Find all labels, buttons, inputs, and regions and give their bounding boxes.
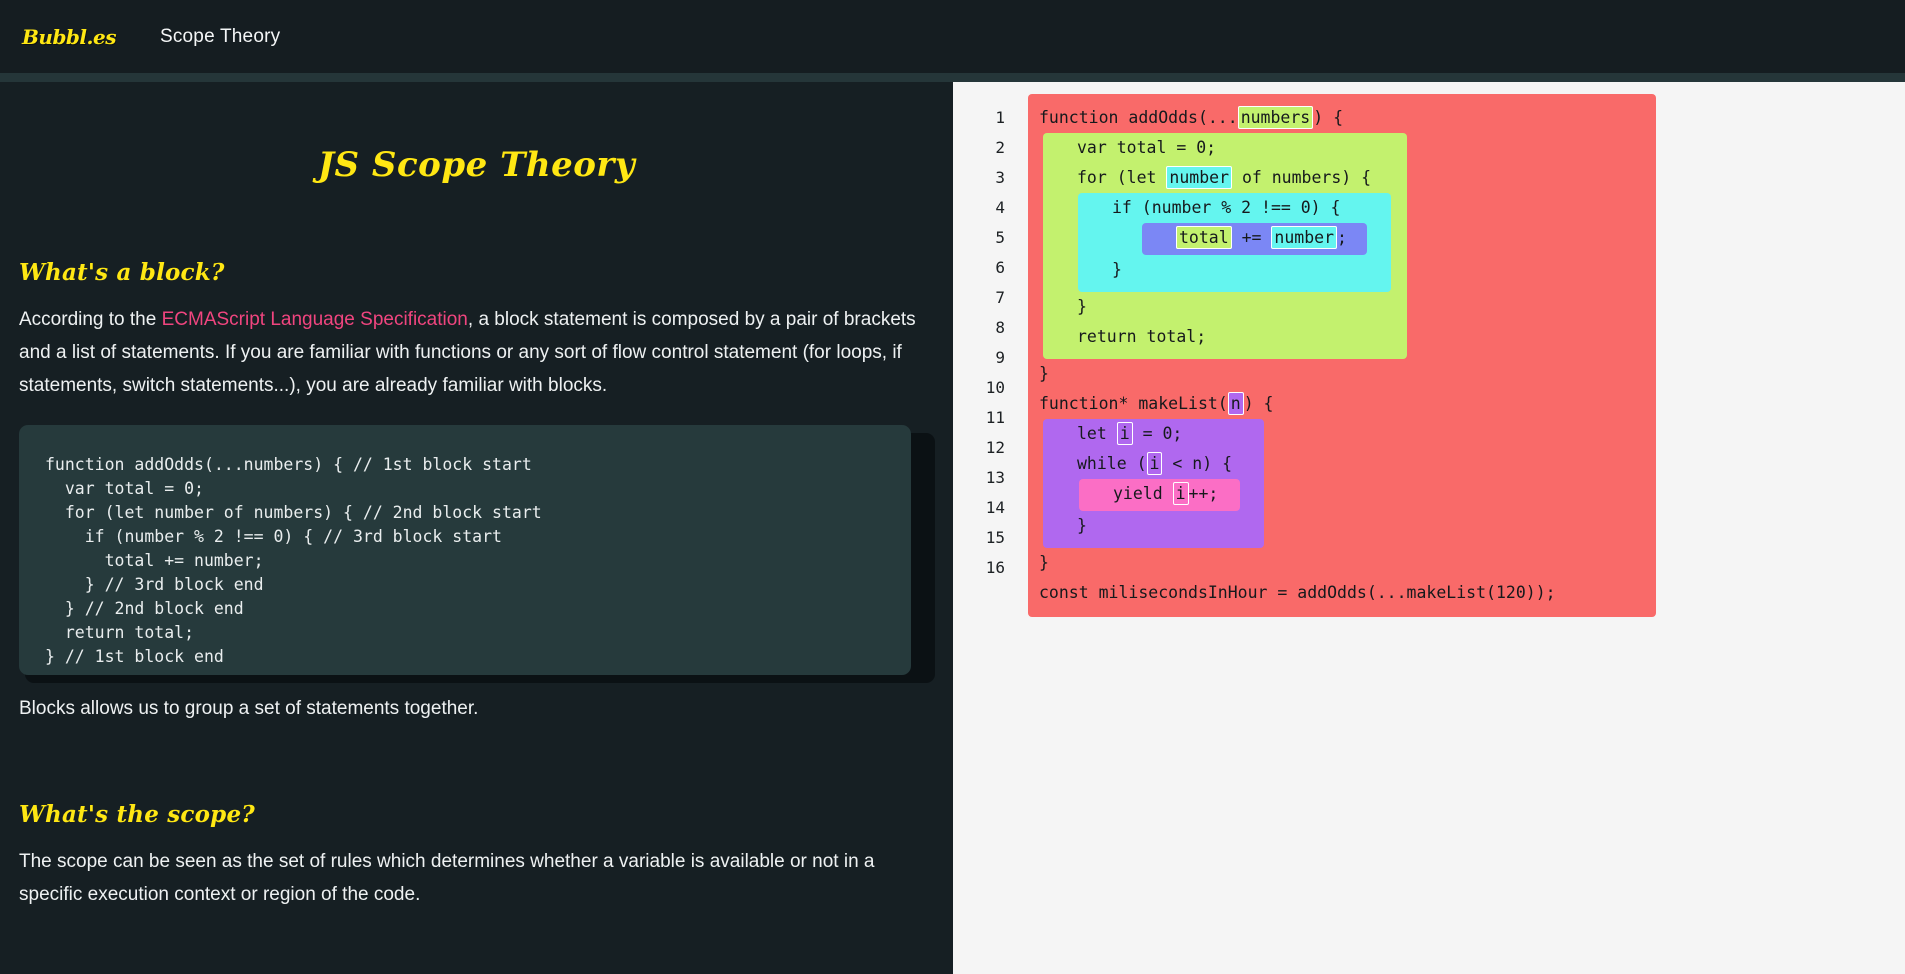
code-text: +=: [1232, 228, 1272, 247]
top-navbar: Bubbl.es Scope Theory: [0, 0, 1905, 73]
code-line-3: for (let number of numbers) {: [1047, 163, 1391, 193]
code-line-9: }: [1039, 359, 1646, 389]
code-line-10: function* makeList(n) {: [1039, 389, 1646, 419]
line-number: 8: [953, 313, 1005, 343]
paragraph-text-before-link: According to the: [19, 309, 162, 330]
code-text: < n) {: [1162, 454, 1232, 473]
code-line-16: const milisecondsInHour = addOdds(...mak…: [1039, 578, 1646, 608]
line-number: 16: [953, 553, 1005, 583]
line-number: 10: [953, 373, 1005, 403]
code-text: ;: [1337, 228, 1347, 247]
page-title: JS Scope Theory: [19, 145, 934, 185]
code-text: let: [1077, 424, 1117, 443]
line-number: 2: [953, 133, 1005, 163]
variable-token-i[interactable]: i: [1117, 422, 1133, 445]
code-line-15: }: [1039, 548, 1646, 578]
code-line-4: if (number % 2 !== 0) {: [1082, 193, 1367, 223]
line-number: 11: [953, 403, 1005, 433]
scope-block-global[interactable]: function addOdds(...numbers) { var total…: [1028, 94, 1656, 617]
line-number: 3: [953, 163, 1005, 193]
section-heading-block: What's a block?: [19, 259, 934, 286]
scope-visualizer-panel[interactable]: 1 2 3 4 5 6 7 8 9 10 11 12 13 14 15 16 f…: [953, 82, 1905, 974]
code-text: ) {: [1244, 394, 1274, 413]
line-number-gutter: 1 2 3 4 5 6 7 8 9 10 11 12 13 14 15 16: [953, 94, 1005, 583]
line-number: 7: [953, 283, 1005, 313]
code-line-7: }: [1047, 292, 1391, 322]
code-text: = 0;: [1133, 424, 1183, 443]
variable-token-number[interactable]: number: [1271, 226, 1337, 249]
code-line-5: total += number;: [1146, 223, 1347, 253]
line-number: 4: [953, 193, 1005, 223]
section-heading-scope: What's the scope?: [19, 801, 934, 828]
code-text: of numbers) {: [1232, 168, 1371, 187]
code-sample-block[interactable]: function addOdds(...numbers) { // 1st bl…: [19, 425, 911, 675]
code-sample-text: function addOdds(...numbers) { // 1st bl…: [45, 453, 911, 669]
code-text: while (: [1077, 454, 1147, 473]
code-sample-container: function addOdds(...numbers) { // 1st bl…: [19, 425, 935, 675]
variable-token-i[interactable]: i: [1173, 482, 1189, 505]
code-line-1: function addOdds(...numbers) {: [1039, 103, 1646, 133]
article-panel[interactable]: JS Scope Theory What's a block? Accordin…: [0, 82, 953, 974]
nav-link-scope-theory[interactable]: Scope Theory: [160, 26, 280, 48]
page-body: JS Scope Theory What's a block? Accordin…: [0, 73, 1905, 974]
scope-block-function-body[interactable]: var total = 0; for (let number of number…: [1043, 133, 1407, 359]
variable-token-i[interactable]: i: [1147, 452, 1163, 475]
code-line-11: let i = 0;: [1047, 419, 1240, 449]
scope-visualizer: 1 2 3 4 5 6 7 8 9 10 11 12 13 14 15 16 f…: [953, 94, 1656, 617]
code-line-13: yield i++;: [1083, 479, 1218, 509]
variable-token-total[interactable]: total: [1176, 226, 1232, 249]
line-number: 9: [953, 343, 1005, 373]
scope-blocks: function addOdds(...numbers) { var total…: [1028, 94, 1656, 617]
ecmascript-spec-link[interactable]: ECMAScript Language Specification: [162, 309, 468, 330]
code-line-6: }: [1082, 255, 1367, 285]
code-line-12: while (i < n) {: [1047, 449, 1240, 479]
panel-divider: [0, 73, 1905, 82]
code-text: ++;: [1189, 484, 1219, 503]
paragraph-scope-definition: The scope can be seen as the set of rule…: [19, 845, 934, 911]
code-text: for (let: [1077, 168, 1166, 187]
line-number: 1: [953, 103, 1005, 133]
code-text: function addOdds(...: [1039, 108, 1238, 127]
line-number: 6: [953, 253, 1005, 283]
code-line-14: }: [1047, 511, 1240, 541]
line-number: 14: [953, 493, 1005, 523]
line-number: 15: [953, 523, 1005, 553]
scope-block-generator-body[interactable]: let i = 0; while (i < n) { yield i++; }: [1043, 419, 1264, 548]
scope-block-if[interactable]: total += number;: [1142, 223, 1367, 255]
code-text: ) {: [1313, 108, 1343, 127]
code-line-8: return total;: [1047, 322, 1391, 352]
code-text: function* makeList(: [1039, 394, 1228, 413]
line-number: 12: [953, 433, 1005, 463]
code-text: yield: [1113, 484, 1173, 503]
scope-block-for[interactable]: if (number % 2 !== 0) { total += number;…: [1078, 193, 1391, 292]
line-number: 5: [953, 223, 1005, 253]
brand-logo[interactable]: Bubbl.es: [22, 25, 116, 49]
paragraph-block-definition: According to the ECMAScript Language Spe…: [19, 303, 934, 402]
scope-block-while[interactable]: yield i++;: [1079, 479, 1240, 511]
variable-token-n[interactable]: n: [1228, 392, 1244, 415]
paragraph-blocks-group: Blocks allows us to group a set of state…: [19, 692, 934, 725]
variable-token-number[interactable]: number: [1166, 166, 1232, 189]
variable-token-numbers[interactable]: numbers: [1238, 106, 1314, 129]
line-number: 13: [953, 463, 1005, 493]
code-line-2: var total = 0;: [1047, 133, 1391, 163]
